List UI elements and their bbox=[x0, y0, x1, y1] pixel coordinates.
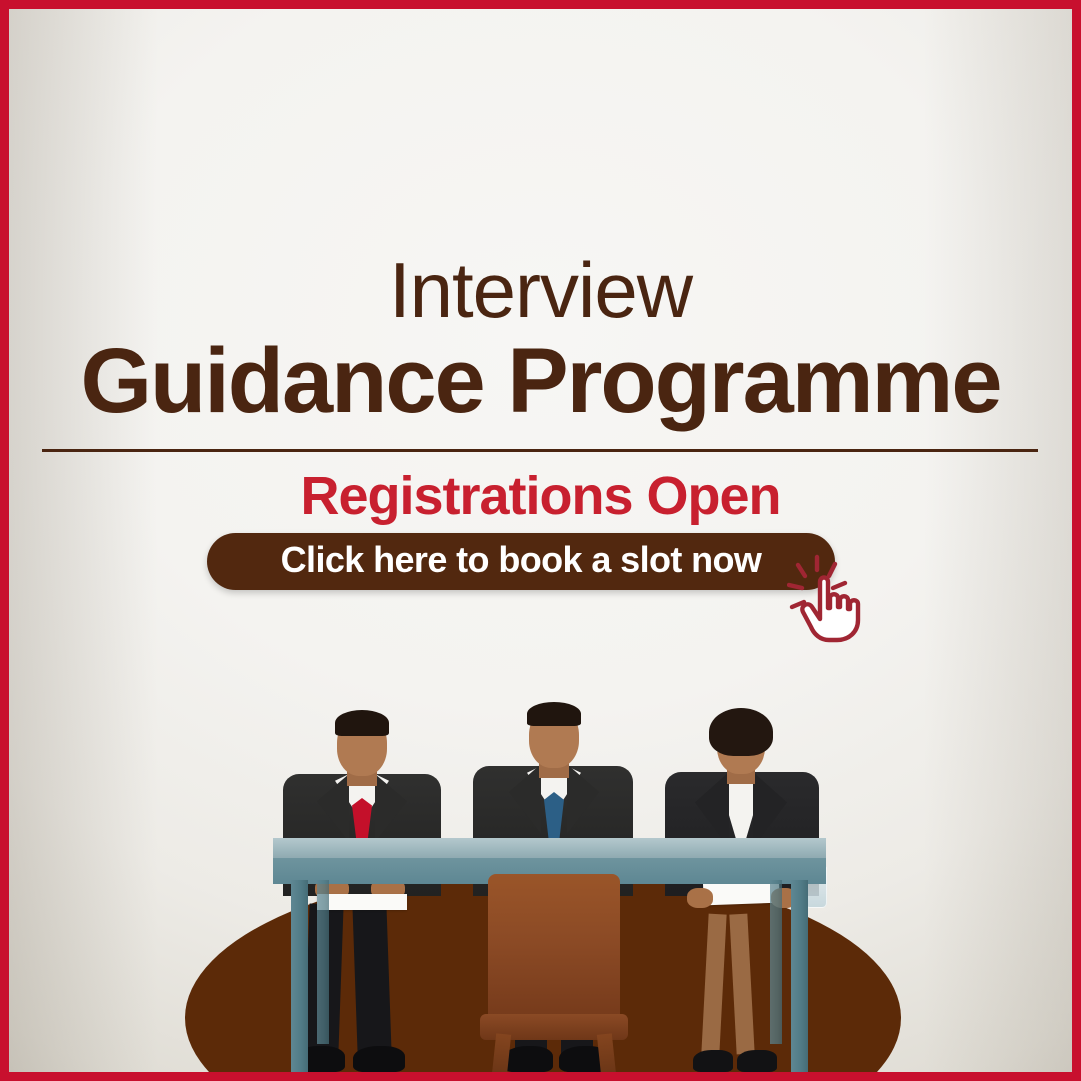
desk-leg-left bbox=[291, 880, 308, 1072]
title-line-interview: Interview bbox=[9, 247, 1072, 333]
panelist-right-legs bbox=[701, 914, 726, 1055]
title-divider-rule bbox=[42, 449, 1038, 452]
panelist-left-legs bbox=[352, 903, 391, 1054]
candidate-chair bbox=[480, 874, 628, 1072]
panelist-right-shoe bbox=[693, 1050, 733, 1072]
desk-leg-right-inner bbox=[770, 880, 782, 1044]
panelist-right-shoe bbox=[737, 1050, 777, 1072]
subtitle-registrations-open: Registrations Open bbox=[9, 465, 1072, 527]
interview-panel-scene bbox=[9, 632, 1072, 1072]
pointing-hand-click-icon bbox=[787, 552, 887, 644]
panelist-center-hair bbox=[527, 702, 581, 726]
interview-panel-photo bbox=[273, 632, 826, 1072]
panelist-left-hair bbox=[335, 710, 389, 736]
book-slot-button[interactable]: Click here to book a slot now bbox=[207, 533, 835, 590]
desk-leg-right bbox=[791, 880, 808, 1072]
desk-leg-left-inner bbox=[317, 880, 329, 1044]
chair-leg bbox=[492, 1033, 511, 1072]
headline-block: Interview Guidance Programme bbox=[9, 247, 1072, 429]
desk-surface bbox=[273, 838, 826, 858]
panelist-left-paper bbox=[317, 894, 407, 910]
panelist-right-legs bbox=[729, 914, 754, 1055]
poster: Interview Guidance Programme Registratio… bbox=[0, 0, 1081, 1081]
panelist-right-hand bbox=[687, 888, 713, 908]
title-line-guidance-programme: Guidance Programme bbox=[9, 333, 1072, 429]
poster-canvas: Interview Guidance Programme Registratio… bbox=[9, 9, 1072, 1072]
book-slot-button-label: Click here to book a slot now bbox=[281, 542, 762, 581]
panelist-left-shoe bbox=[353, 1046, 405, 1072]
panelist-right-hair bbox=[709, 708, 773, 756]
chair-backrest bbox=[488, 874, 620, 1026]
